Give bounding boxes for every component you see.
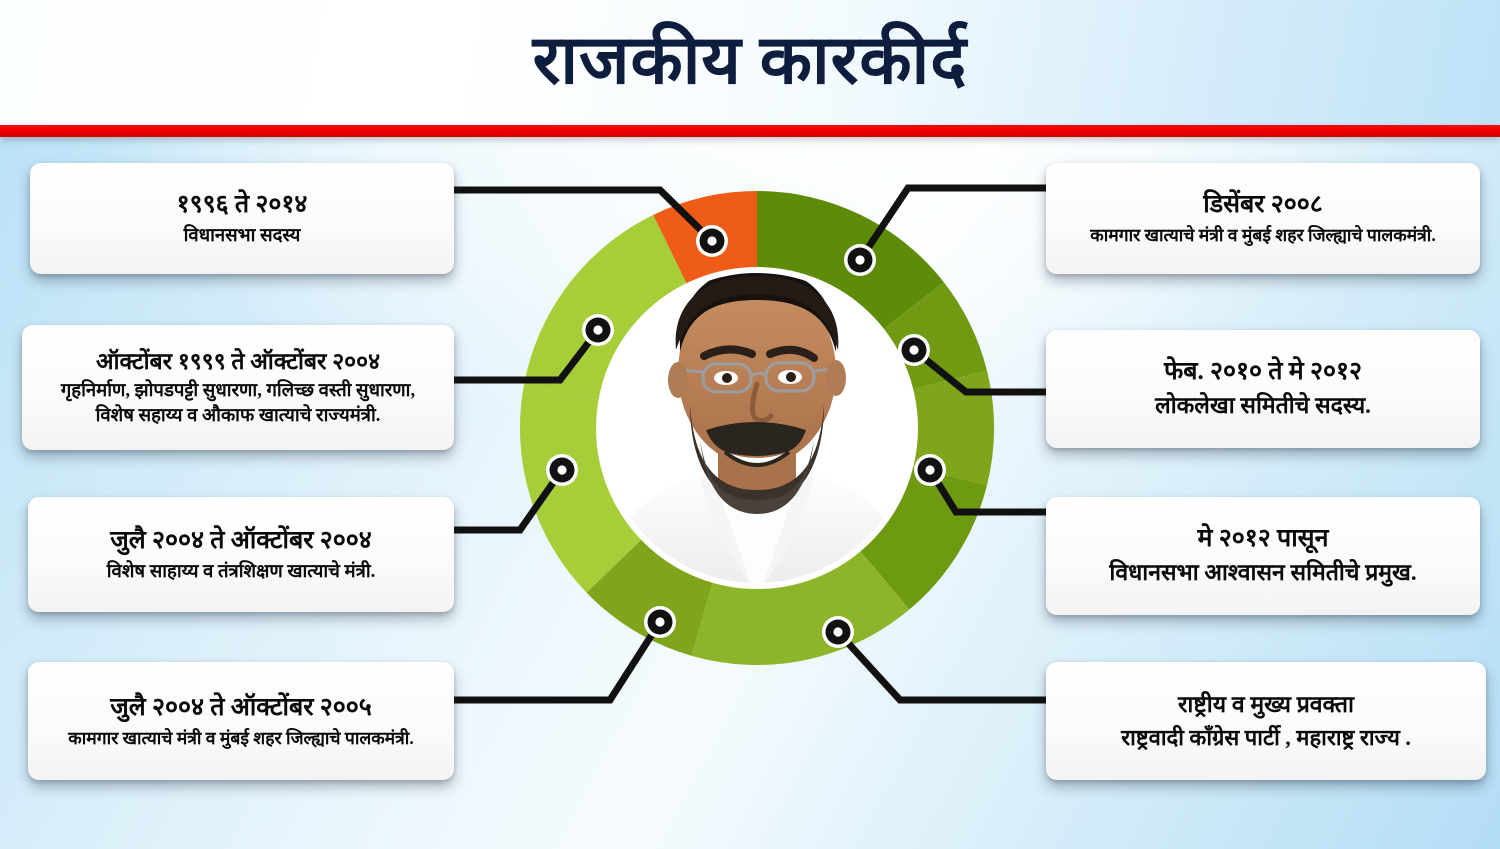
- card-heading: १९९६ ते २०१४: [177, 189, 308, 221]
- donut-segment: [909, 371, 994, 486]
- card-national-spokesperson[interactable]: राष्ट्रीय व मुख्य प्रवक्ता राष्ट्रवादी क…: [1046, 662, 1486, 780]
- card-heading: फेब. २०१० ते मे २०१२: [1164, 356, 1362, 388]
- header-red-divider: [0, 125, 1500, 137]
- donut-segment: [858, 466, 987, 610]
- connector-right-2: [914, 350, 1046, 392]
- card-subtext: लोकलेखा समितीचे सदस्य.: [1155, 391, 1371, 422]
- card-heading: मे २०१२ पासून: [1198, 523, 1329, 555]
- avatar-ring: [599, 270, 915, 586]
- card-subtext: गृहनिर्माण, झोपडपट्टी सुधारणा, गलिच्छ वस…: [61, 379, 415, 404]
- connector-lines: [446, 188, 1046, 700]
- card-jul-2004-oct-2004[interactable]: जुलै २००४ ते ऑक्टोंबर २००४ विशेष साहाय्य…: [28, 497, 454, 612]
- card-heading: डिसेंबर २००८: [1203, 189, 1323, 221]
- avatar: [598, 268, 916, 600]
- connector-left-1: [456, 190, 712, 241]
- card-feb-2010-may-2012[interactable]: फेब. २०१० ते मे २०१२ लोकलेखा समितीचे सदस…: [1046, 330, 1480, 448]
- donut-inner-disc: [598, 269, 916, 587]
- connector-left-2: [446, 330, 598, 380]
- donut-segment: [524, 215, 689, 401]
- card-subtext: विधानसभा सदस्य: [184, 224, 301, 249]
- donut-segment: [520, 387, 644, 593]
- donut-segment: [881, 282, 987, 390]
- card-subtext: राष्ट्रवादी काँग्रेस पार्टी , महाराष्ट्र…: [1121, 723, 1411, 752]
- card-heading: राष्ट्रीय व मुख्य प्रवक्ता: [1178, 690, 1354, 719]
- card-jul-2004-oct-2005[interactable]: जुलै २००४ ते ऑक्टोंबर २००५ कामगार खात्या…: [28, 662, 454, 780]
- donut-segment: [757, 191, 944, 331]
- card-subtext-2: विशेष सहाय्य व औकाफ खात्याचे राज्यमंत्री…: [96, 404, 381, 429]
- donut-segments-generated: [520, 191, 994, 665]
- donut-segment: [692, 548, 910, 665]
- card-oct-1999-oct-2004[interactable]: ऑक्टोंबर १९९९ ते ऑक्टोंबर २००४ गृहनिर्मा…: [22, 325, 454, 450]
- donut-segment: [587, 537, 714, 656]
- connector-right-1: [860, 188, 1046, 260]
- donut-markers: [546, 225, 946, 648]
- card-heading: जुलै २००४ ते ऑक्टोंबर २००५: [110, 692, 372, 724]
- card-may-2012-onwards[interactable]: मे २०१२ पासून विधानसभा आश्वासन समितीचे प…: [1046, 497, 1480, 615]
- card-subtext: कामगार खात्याचे मंत्री व मुंबई शहर जिल्ह…: [1090, 224, 1435, 247]
- connector-left-3: [446, 470, 562, 530]
- card-dec-2008[interactable]: डिसेंबर २००८ कामगार खात्याचे मंत्री व मु…: [1046, 163, 1480, 274]
- card-heading: ऑक्टोंबर १९९९ ते ऑक्टोंबर २००४: [96, 347, 380, 376]
- connector-right-3: [930, 470, 1046, 512]
- connector-right-4: [838, 632, 1046, 700]
- infographic-root: राजकीय कारकीर्द: [0, 0, 1500, 849]
- card-1996-2014[interactable]: १९९६ ते २०१४ विधानसभा सदस्य: [30, 163, 454, 274]
- card-subtext: कामगार खात्याचे मंत्री व मुंबई शहर जिल्ह…: [68, 727, 413, 750]
- page-title: राजकीय कारकीर्द: [0, 10, 1500, 110]
- card-heading: जुलै २००४ ते ऑक्टोंबर २००४: [110, 525, 372, 557]
- card-subtext: विधानसभा आश्वासन समितीचे प्रमुख.: [1109, 558, 1416, 589]
- connector-left-4: [446, 622, 660, 700]
- card-subtext: विशेष साहाय्य व तंत्रशिक्षण खात्याचे मंत…: [107, 560, 376, 585]
- donut-segment: [653, 191, 757, 287]
